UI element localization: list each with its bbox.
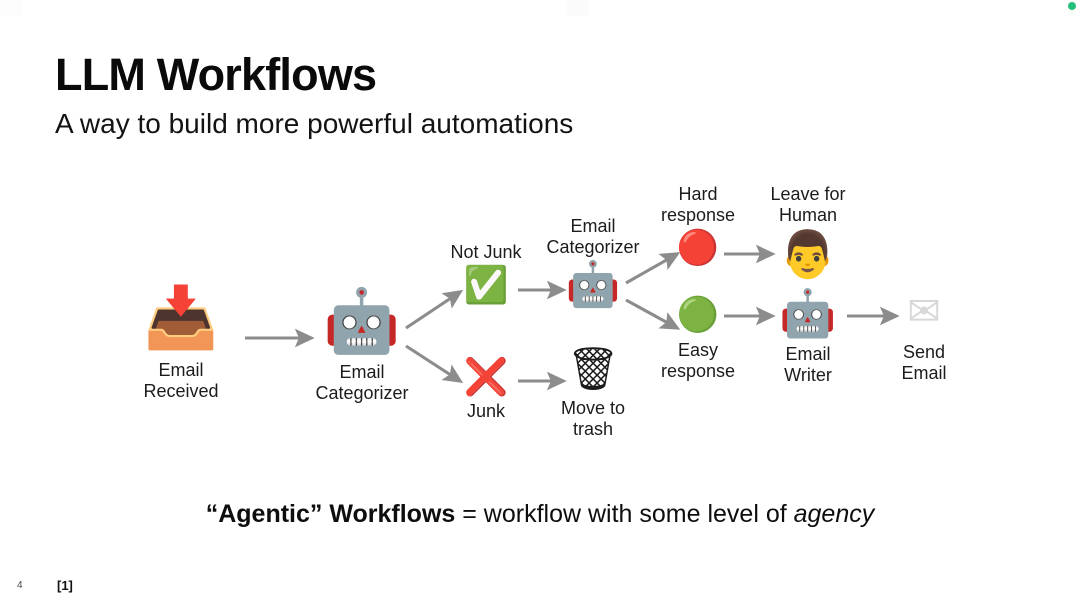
man-icon: 👨 <box>757 231 859 277</box>
node-email-categorizer-1-label: Email Categorizer <box>302 362 422 404</box>
node-hard-response: Hard response 🔴 <box>649 184 747 265</box>
envelope-icon: ✉ <box>876 292 972 332</box>
node-leave-for-human-label: Leave for Human <box>757 184 859 226</box>
node-email-writer-label: Email Writer <box>757 344 859 386</box>
node-leave-for-human: Leave for Human 👨 <box>757 184 859 277</box>
caption-equals: = <box>455 500 484 528</box>
node-not-junk-label: Not Junk <box>438 242 534 263</box>
node-not-junk: Not Junk ✅ <box>438 242 534 304</box>
red-circle-icon: 🔴 <box>649 231 747 265</box>
wastebasket-icon: 🗑 <box>535 348 651 390</box>
slide-canvas: LLM Workflows A way to build more powerf… <box>0 0 1080 607</box>
caption-term: “Agentic” Workflows <box>206 500 456 528</box>
node-email-writer: 🤖 Email Writer <box>757 290 859 386</box>
node-easy-response: 🟢 Easy response <box>649 298 747 382</box>
node-send-email: ✉ Send Email <box>876 292 972 384</box>
node-junk-label: Junk <box>438 401 534 422</box>
check-mark-icon: ✅ <box>438 268 534 304</box>
caption-emphasis: agency <box>794 500 875 528</box>
green-circle-icon: 🟢 <box>649 298 747 332</box>
robot-icon: 🤖 <box>757 290 859 336</box>
node-hard-response-label: Hard response <box>649 184 747 226</box>
node-move-to-trash: 🗑 Move to trash <box>535 348 651 440</box>
caption-definition: workflow with some level of <box>484 500 794 528</box>
node-junk: ❌ Junk <box>438 360 534 422</box>
node-email-received: 📥 Email Received <box>120 288 242 402</box>
inbox-tray-icon: 📥 <box>120 288 242 348</box>
page-number: 4 <box>17 580 23 591</box>
node-email-received-label: Email Received <box>120 360 242 402</box>
node-email-categorizer-2: Email Categorizer 🤖 <box>533 216 653 307</box>
node-email-categorizer-1: 🤖 Email Categorizer <box>302 290 422 404</box>
caption: “Agentic” Workflows = workflow with some… <box>0 500 1080 529</box>
node-email-categorizer-2-label: Email Categorizer <box>533 216 653 258</box>
robot-icon: 🤖 <box>533 263 653 307</box>
citation-reference[interactable]: [1] <box>57 578 73 593</box>
node-easy-response-label: Easy response <box>649 340 747 382</box>
cross-mark-icon: ❌ <box>438 360 534 396</box>
node-send-email-label: Send Email <box>876 342 972 384</box>
node-move-to-trash-label: Move to trash <box>535 398 651 440</box>
robot-icon: 🤖 <box>302 290 422 352</box>
